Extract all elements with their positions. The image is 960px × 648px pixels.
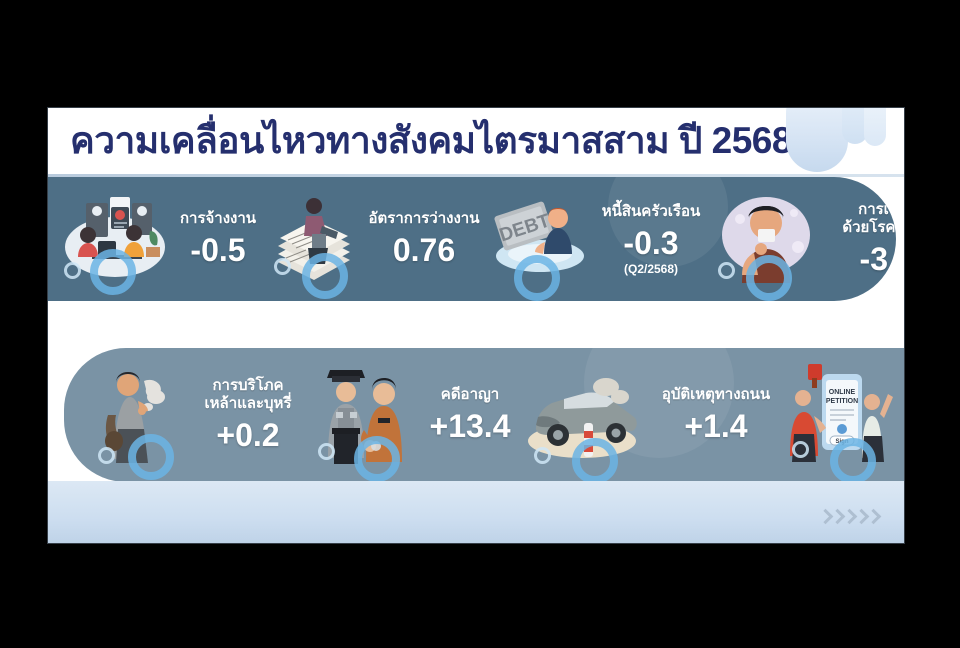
metric-label-line1: การบริโภค [212,377,283,395]
car-crash-icon [524,348,646,482]
svg-text:PETITION: PETITION [826,398,858,405]
metric-text-illness: การเจ็บป่วย ด้วยโรคเฝ้าระวัง -3.06 [818,201,896,277]
metric-value: +1.4 [684,408,747,444]
metric-road-accidents[interactable]: อุบัติเหตุทางถนน +1.4 [524,348,786,482]
ring-decoration-small [274,258,291,275]
page-title: ความเคลื่อนไหวทางสังคมไตรมาสสาม ปี 2568 [70,112,792,170]
metric-value: +13.4 [430,408,511,444]
police-arrest-icon [312,348,416,482]
metric-text-employment: การจ้างงาน -0.5 [168,210,268,268]
ring-decoration-small [718,262,735,279]
job-interview-icon [62,177,168,301]
metric-text-unemployment: อัตราการว่างงาน 0.76 [360,210,488,268]
metric-value: -0.3 [623,225,678,261]
ring-decoration [830,438,876,482]
metric-value: -3.06 [860,241,896,277]
metric-value: 0.76 [393,232,455,268]
ring-decoration [90,249,136,295]
ring-decoration [746,255,792,301]
chevron-right-icon [867,509,878,527]
next-slide-chevrons[interactable] [819,509,878,527]
chevron-right-icon [831,509,842,527]
metrics-panel-row1: การจ้างงาน -0.5 [48,177,896,301]
ring-decoration-small [318,443,335,460]
metric-text-criminal: คดีอาญา +13.4 [416,386,524,444]
metric-criminal-cases[interactable]: คดีอาญา +13.4 [312,348,524,482]
metric-consumer-complaints[interactable]: ONLINE PETITION Sign [786,348,904,482]
ring-decoration [514,255,560,301]
metric-label: การจ้างงาน [180,210,256,228]
metric-text-complaints: การร้องเรียน ของผู้บริโภค +34.4 [894,377,904,453]
sick-person-icon [714,177,818,301]
metric-label-line2: เหล้าและบุหรี่ [204,395,291,413]
smoking-drinking-icon [98,348,184,482]
header-decoration [770,108,900,174]
chevron-right-icon [843,509,854,527]
metric-label: หนี้สินครัวเรือน [602,203,701,221]
online-petition-icon: ONLINE PETITION Sign [786,348,894,482]
metric-value: -0.5 [190,232,245,268]
metric-note: (Q2/2568) [624,262,678,276]
decoration-pill-large [786,108,848,172]
metric-label: อัตราการว่างงาน [369,210,480,228]
ring-decoration [354,436,400,482]
metric-label-line2: ด้วยโรคเฝ้าระวัง [842,219,896,237]
debt-drowning-icon: DEBT [488,177,588,301]
ring-decoration-small [534,447,551,464]
metric-value: +0.2 [216,417,279,453]
slide-header: ความเคลื่อนไหวทางสังคมไตรมาสสาม ปี 2568 [48,108,904,174]
decoration-pill-small [864,108,886,146]
metric-text-alcohol: การบริโภค เหล้าและบุหรี่ +0.2 [184,377,312,453]
ring-decoration-small [64,262,81,279]
chevron-right-icon [855,509,866,527]
metric-alcohol-tobacco[interactable]: การบริโภค เหล้าและบุหรี่ +0.2 [98,348,312,482]
ring-decoration-small [98,447,115,464]
ring-decoration [128,434,174,480]
metrics-panel-row2: การบริโภค เหล้าและบุหรี่ +0.2 [64,348,904,482]
ring-decoration [572,438,618,482]
chevron-right-icon [819,509,830,527]
metric-label-line1: คดีอาญา [441,386,499,404]
person-on-newspapers-icon [268,177,360,301]
metric-unemployment-rate[interactable]: อัตราการว่างงาน 0.76 [268,177,488,301]
metric-employment[interactable]: การจ้างงาน -0.5 [62,177,268,301]
screenshot-stage: ความเคลื่อนไหวทางสังคมไตรมาสสาม ปี 2568 [0,0,960,648]
slide-footer [48,481,904,543]
metric-text-accidents: อุบัติเหตุทางถนน +1.4 [646,386,786,444]
svg-text:ONLINE: ONLINE [829,389,856,396]
metric-household-debt[interactable]: DEBT หนี้สินครัวเรือน -0.3 (Q2/2568) [488,177,714,301]
metric-label-line1: การเจ็บป่วย [858,201,896,219]
metric-illness-surveillance[interactable]: การเจ็บป่วย ด้วยโรคเฝ้าระวัง -3.06 [714,177,896,301]
metric-text-household-debt: หนี้สินครัวเรือน -0.3 (Q2/2568) [588,203,714,276]
metric-label-line1: อุบัติเหตุทางถนน [662,386,770,404]
ring-decoration-small [792,441,809,458]
infographic-slide: ความเคลื่อนไหวทางสังคมไตรมาสสาม ปี 2568 [48,108,904,543]
ring-decoration [302,253,348,299]
